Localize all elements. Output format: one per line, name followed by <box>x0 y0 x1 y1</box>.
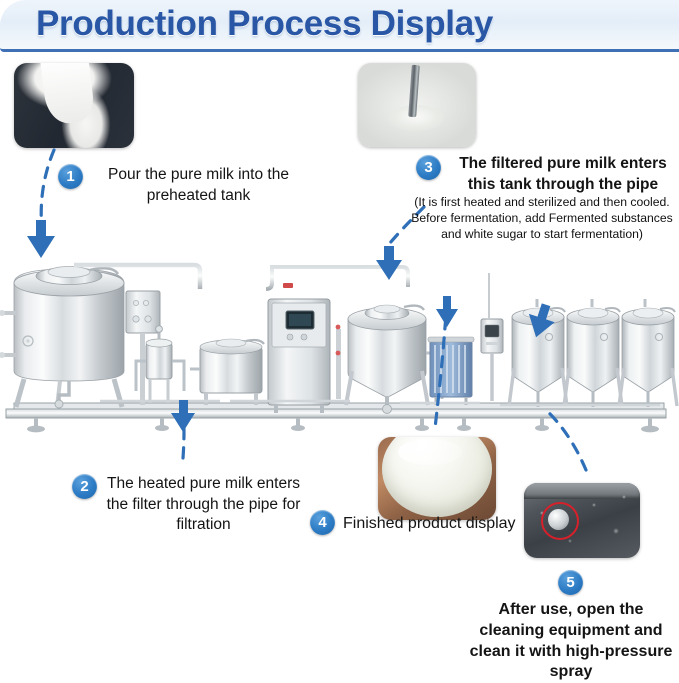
connector-1 <box>41 150 54 230</box>
bowl-sheen <box>398 439 462 465</box>
page-title: Production Process Display <box>36 4 493 44</box>
step-5-badge: 5 <box>558 570 583 595</box>
step-3-text: The filtered pure milk enters this tank … <box>449 154 677 195</box>
inset-photo-3-pipe-into-milk <box>358 63 476 147</box>
step-2-badge: 2 <box>72 474 97 499</box>
step-1-text: Pour the pure milk into the preheated ta… <box>91 165 306 206</box>
step-1-badge: 1 <box>58 164 83 189</box>
step-3-note: (It is first heated and sterilized and t… <box>408 195 676 243</box>
step-4-badge: 4 <box>310 510 335 535</box>
equipment-photo <box>0 243 679 438</box>
step-2-text: The heated pure milk enters the filter t… <box>105 474 302 536</box>
step-4-text: Finished product display <box>343 513 538 534</box>
inset-photo-1-milk-pouring <box>14 63 134 148</box>
step-3-badge: 3 <box>416 155 441 180</box>
inset-photo-4-yogurt-bowl <box>378 437 496 520</box>
highlight-ring-icon <box>541 502 579 540</box>
inset-photo-5-tank-interior <box>524 483 640 558</box>
step-5-text: After use, open the cleaning equipment a… <box>465 600 677 683</box>
page-header: Production Process Display <box>0 0 679 52</box>
